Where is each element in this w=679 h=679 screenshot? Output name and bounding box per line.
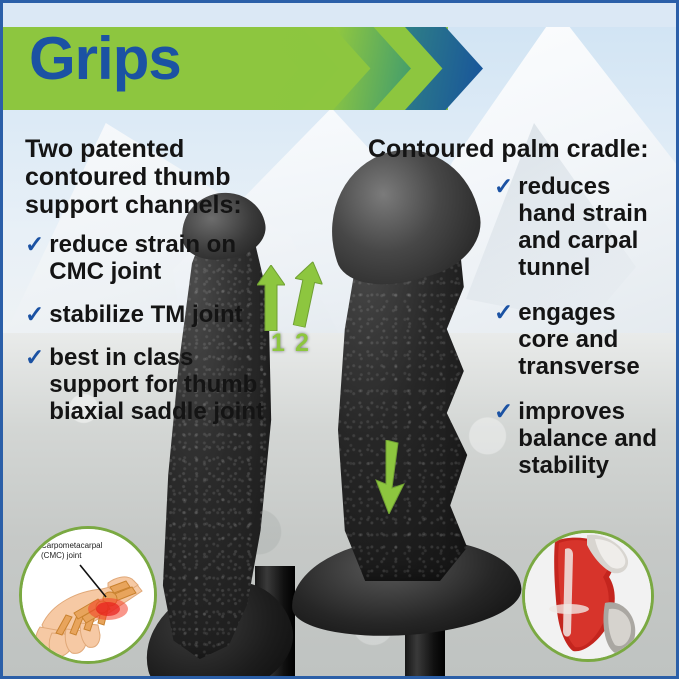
channel-2-label: 2: [295, 329, 309, 358]
left-feature-column: Two patented contoured thumb support cha…: [25, 135, 265, 441]
header-top-strip: [3, 3, 676, 27]
cmc-label: Carpometacarpal (CMC) joint: [41, 541, 102, 561]
check-icon: ✓: [25, 231, 44, 257]
list-item: ✓ engages core and transverse: [494, 299, 668, 380]
right-column-heading: Contoured palm cradle:: [368, 135, 668, 163]
check-icon: ✓: [25, 301, 44, 327]
cmc-label-line-2: (CMC) joint: [41, 551, 102, 561]
bullet-text: reduces hand strain and carpal tunnel: [518, 173, 668, 281]
channel-1-label: 1: [271, 329, 285, 358]
bullet-text: stabilize TM joint: [49, 301, 242, 328]
list-item: ✓ best in class support for thumb biaxia…: [25, 344, 265, 425]
check-icon: ✓: [25, 344, 44, 370]
bullet-text: reduce strain on CMC joint: [49, 231, 265, 285]
bullet-text: engages core and transverse: [518, 299, 668, 380]
left-bullet-list: ✓ reduce strain on CMC joint ✓ stabilize…: [25, 231, 265, 425]
check-icon: ✓: [494, 173, 513, 199]
cmc-joint-inset: Carpometacarpal (CMC) joint: [19, 526, 157, 664]
cmc-label-line-1: Carpometacarpal: [41, 541, 102, 551]
right-feature-column: Contoured palm cradle: ✓ reduces hand st…: [368, 135, 668, 497]
list-item: ✓ improves balance and stability: [494, 398, 668, 479]
list-item: ✓ reduce strain on CMC joint: [25, 231, 265, 285]
page-title: Grips: [29, 29, 181, 89]
left-column-heading: Two patented contoured thumb support cha…: [25, 135, 265, 219]
check-icon: ✓: [494, 398, 513, 424]
bullet-text: best in class support for thumb biaxial …: [49, 344, 265, 425]
bullet-text: improves balance and stability: [518, 398, 668, 479]
check-icon: ✓: [494, 299, 513, 325]
list-item: ✓ stabilize TM joint: [25, 301, 265, 328]
torso-anatomy-illustration: [525, 533, 651, 659]
right-bullet-list: ✓ reduces hand strain and carpal tunnel …: [494, 173, 668, 479]
core-muscles-inset: [522, 530, 654, 662]
list-item: ✓ reduces hand strain and carpal tunnel: [494, 173, 668, 281]
product-infographic: Grips 1 2 Two patented contoured: [0, 0, 679, 679]
